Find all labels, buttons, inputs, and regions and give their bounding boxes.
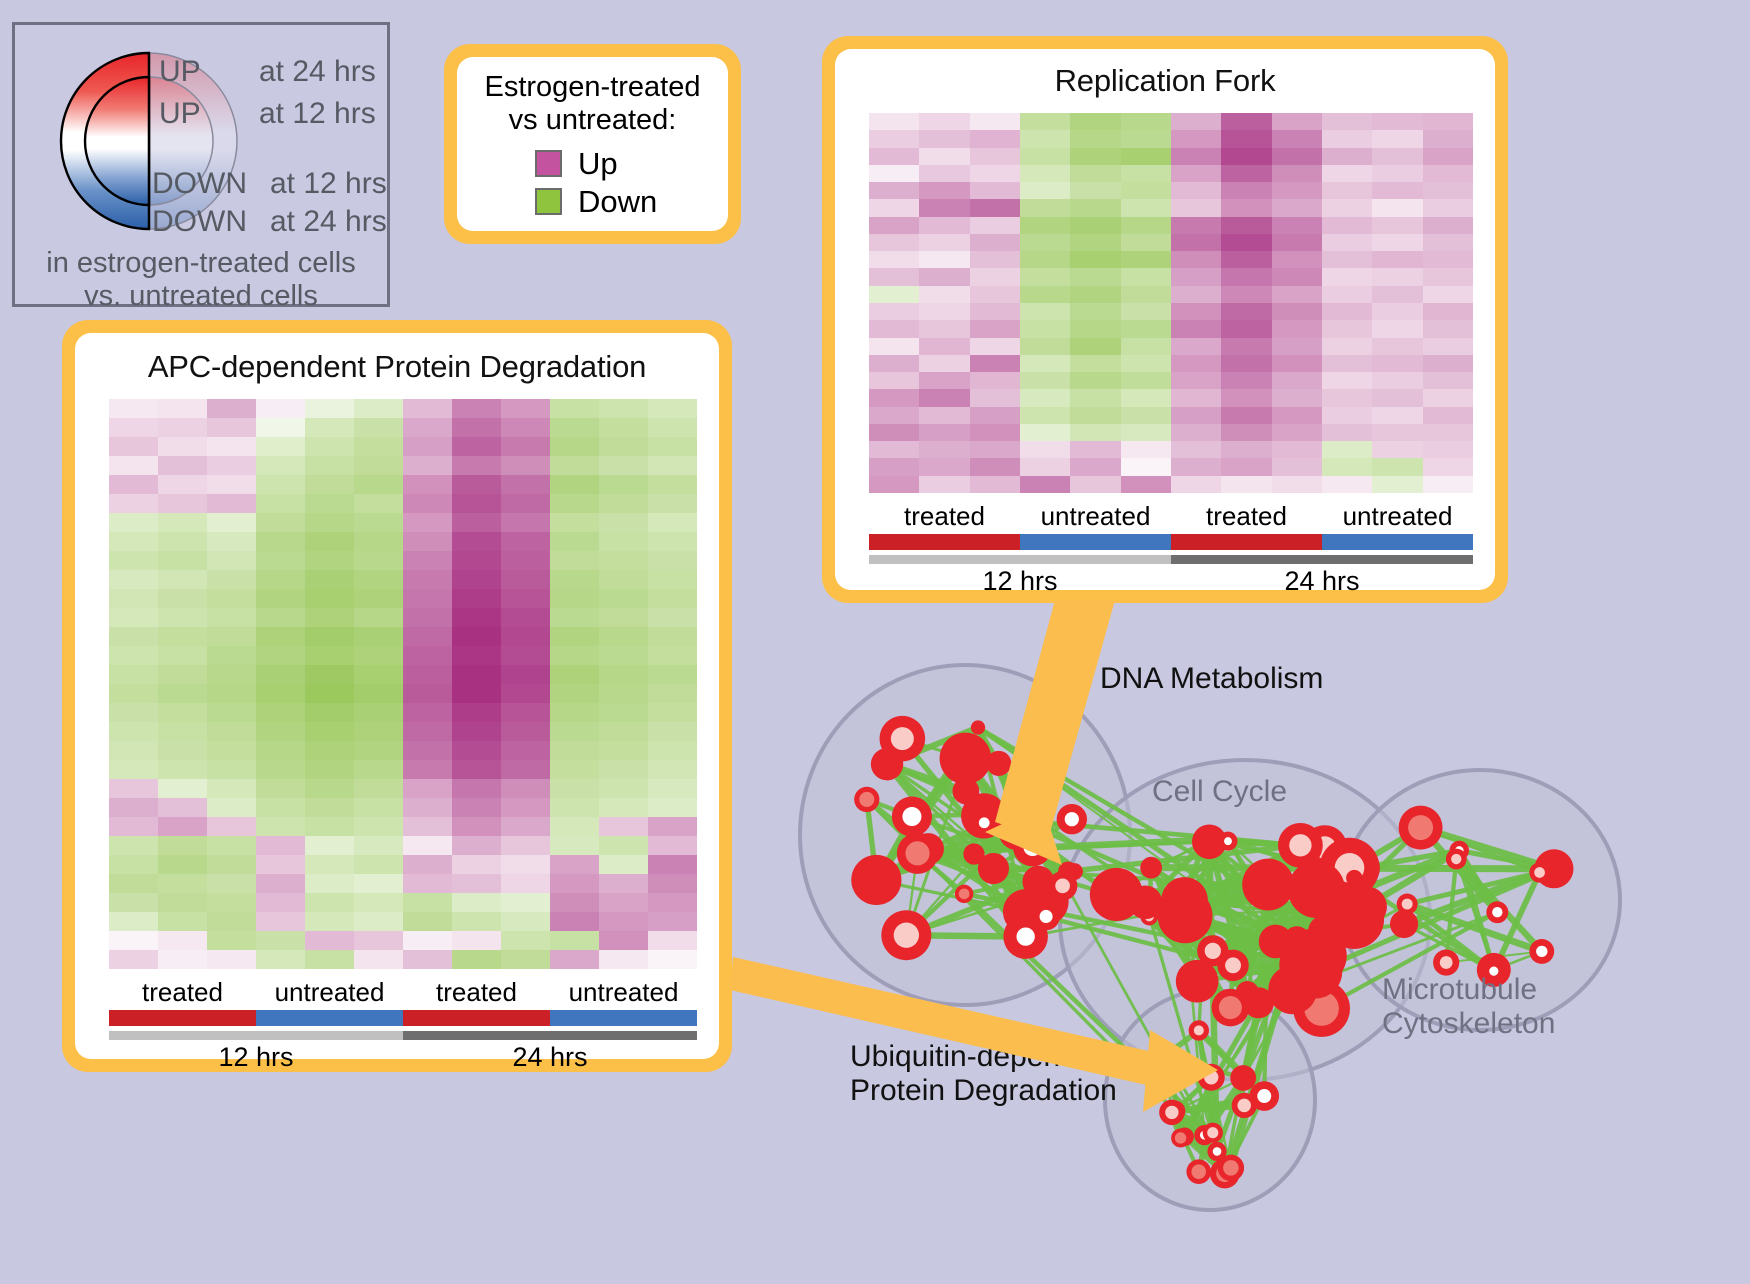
heatmap-cell xyxy=(354,836,403,855)
network-node[interactable] xyxy=(1288,861,1345,918)
network-node[interactable] xyxy=(1176,960,1219,1003)
heatmap-cell xyxy=(403,418,452,437)
heatmap-cell xyxy=(158,589,207,608)
heatmap-cell xyxy=(305,456,354,475)
heatmap-cell xyxy=(109,779,158,798)
heatmap-cell xyxy=(403,722,452,741)
heatmap-cell xyxy=(256,741,305,760)
heatmap-cell xyxy=(1070,320,1120,337)
heatmap-cell xyxy=(1121,407,1171,424)
legend-label-up: Up xyxy=(578,148,618,179)
heatmap-cell xyxy=(501,608,550,627)
heatmap-cell xyxy=(158,836,207,855)
heatmap-cell xyxy=(1121,148,1171,165)
heatmap-cell xyxy=(599,494,648,513)
key-time-up-24: at 24 hrs xyxy=(259,55,376,89)
heatmap-cell xyxy=(305,437,354,456)
network-node-core xyxy=(1237,1099,1250,1112)
heatmap-cell xyxy=(354,551,403,570)
heatmap-cell xyxy=(970,148,1020,165)
heatmap-cell xyxy=(501,836,550,855)
timepoint-bar-segment xyxy=(1171,555,1473,564)
legend-item-list: UpDown xyxy=(457,144,728,220)
heatmap-cell xyxy=(452,950,501,969)
heatmap-cell xyxy=(403,570,452,589)
heatmap-cell xyxy=(1221,476,1271,493)
cluster-label-line: DNA Metabolism xyxy=(1100,662,1323,696)
heatmap-cell xyxy=(1070,476,1120,493)
heatmap-cell xyxy=(256,779,305,798)
heatmap-cell xyxy=(648,513,697,532)
heatmap-cell xyxy=(207,950,256,969)
heatmap-cell xyxy=(970,389,1020,406)
heatmap-cell xyxy=(1020,251,1070,268)
heatmap-cell xyxy=(109,950,158,969)
heatmap-cell xyxy=(1121,268,1171,285)
heatmap-cell xyxy=(1070,407,1120,424)
heatmap-cell xyxy=(1070,130,1120,147)
heatmap-cell xyxy=(403,893,452,912)
heatmap-cell xyxy=(599,931,648,950)
heatmap-cell xyxy=(550,684,599,703)
heatmap-cell xyxy=(158,399,207,418)
heatmap-cell xyxy=(550,646,599,665)
heatmap-cell xyxy=(1171,217,1221,234)
heatmap-cell xyxy=(158,855,207,874)
heatmap-cell xyxy=(1322,165,1372,182)
heatmap-cell xyxy=(109,437,158,456)
apc-condition-bar xyxy=(109,1010,697,1026)
pathway-network-diagram: DNA MetabolismCell CycleMicrotubuleCytos… xyxy=(790,600,1750,1279)
timepoint-bar-segment xyxy=(109,1031,403,1040)
network-node[interactable] xyxy=(940,733,992,785)
heatmap-cell xyxy=(550,418,599,437)
heatmap-cell xyxy=(550,513,599,532)
network-node[interactable] xyxy=(971,720,985,734)
heatmap-cell xyxy=(305,912,354,931)
timepoint-label: 12 hrs xyxy=(109,1042,403,1073)
cluster-label-line: Cytoskeleton xyxy=(1382,1007,1555,1041)
heatmap-cell xyxy=(1322,234,1372,251)
heatmap-cell xyxy=(354,931,403,950)
heatmap-cell xyxy=(1070,424,1120,441)
heatmap-cell xyxy=(550,931,599,950)
heatmap-cell xyxy=(970,458,1020,475)
heatmap-cell xyxy=(869,268,919,285)
network-node-core xyxy=(1408,815,1433,840)
heatmap-cell xyxy=(1423,113,1473,130)
heatmap-cell xyxy=(1121,217,1171,234)
heatmap-cell xyxy=(1272,199,1322,216)
heatmap-cell xyxy=(919,251,969,268)
heatmap-cell xyxy=(305,608,354,627)
heatmap-cell xyxy=(970,407,1020,424)
heatmap-cell xyxy=(648,912,697,931)
timepoint-bar-segment xyxy=(869,555,1171,564)
heatmap-cell xyxy=(599,665,648,684)
network-node-core xyxy=(1440,956,1453,969)
heatmap-cell xyxy=(1221,251,1271,268)
heatmap-cell xyxy=(354,456,403,475)
heatmap-cell xyxy=(305,665,354,684)
heatmap-cell xyxy=(1322,476,1372,493)
network-node-core xyxy=(1402,899,1413,910)
heatmap-cell xyxy=(403,931,452,950)
heatmap-cell xyxy=(1121,130,1171,147)
network-node[interactable] xyxy=(851,855,901,905)
heatmap-cell xyxy=(403,456,452,475)
heatmap-cell xyxy=(599,779,648,798)
heatmap-cell xyxy=(1322,458,1372,475)
heatmap-cell xyxy=(501,494,550,513)
network-node-core xyxy=(1257,1089,1271,1103)
heatmap-cell xyxy=(354,665,403,684)
heatmap-cell xyxy=(1423,424,1473,441)
heatmap-cell xyxy=(1423,199,1473,216)
heatmap-cell xyxy=(403,399,452,418)
heatmap-cell xyxy=(1372,165,1422,182)
network-node[interactable] xyxy=(1090,868,1143,921)
heatmap-cell xyxy=(256,532,305,551)
heatmap-cell xyxy=(919,458,969,475)
heatmap-cell xyxy=(919,113,969,130)
apc-condition-labels: treateduntreatedtreateduntreated xyxy=(109,977,697,1008)
heatmap-cell xyxy=(1372,424,1422,441)
heatmap-cell xyxy=(1221,217,1271,234)
network-node-core xyxy=(1223,1160,1238,1175)
heatmap-cell xyxy=(970,165,1020,182)
heatmap-cell xyxy=(1020,286,1070,303)
heatmap-cell xyxy=(1070,286,1120,303)
heatmap-cell xyxy=(158,494,207,513)
heatmap-cell xyxy=(452,912,501,931)
cluster-label-line: Ubiquitin-dependent xyxy=(850,1040,1119,1074)
heatmap-cell xyxy=(1372,303,1422,320)
heatmap-cell xyxy=(1171,407,1221,424)
condition-label: treated xyxy=(403,977,550,1008)
heatmap-cell xyxy=(599,646,648,665)
heatmap-cell xyxy=(1221,268,1271,285)
heatmap-cell xyxy=(354,513,403,532)
panel-apc-dependent-protein-degradation: APC-dependent Protein Degradation treate… xyxy=(62,320,732,1072)
heatmap-cell xyxy=(1070,251,1120,268)
heatmap-cell xyxy=(869,148,919,165)
network-node[interactable] xyxy=(963,843,984,864)
heatmap-cell xyxy=(452,893,501,912)
heatmap-cell xyxy=(305,589,354,608)
heatmap-cell xyxy=(354,817,403,836)
heatmap-cell xyxy=(599,760,648,779)
heatmap-cell xyxy=(1272,234,1322,251)
heatmap-cell xyxy=(1372,320,1422,337)
heatmap-cell xyxy=(550,437,599,456)
heatmap-cell xyxy=(1020,424,1070,441)
network-node[interactable] xyxy=(1230,1065,1256,1091)
heatmap-cell xyxy=(158,475,207,494)
heatmap-cell xyxy=(919,441,969,458)
heatmap-cell xyxy=(1372,286,1422,303)
heatmap-cell xyxy=(1121,286,1171,303)
heatmap-cell xyxy=(648,608,697,627)
heatmap-cell xyxy=(1221,372,1271,389)
heatmap-cell xyxy=(648,893,697,912)
network-node[interactable] xyxy=(1196,831,1214,849)
heatmap-cell xyxy=(970,476,1020,493)
heatmap-cell xyxy=(869,355,919,372)
network-node-core xyxy=(1213,1147,1222,1156)
heatmap-cell xyxy=(1121,303,1171,320)
heatmap-cell xyxy=(970,286,1020,303)
heatmap-cell xyxy=(1372,441,1422,458)
key-label-down-12: DOWN xyxy=(152,167,247,201)
condition-label: treated xyxy=(109,977,256,1008)
heatmap-cell xyxy=(207,779,256,798)
heatmap-cell xyxy=(452,418,501,437)
heatmap-cell xyxy=(919,355,969,372)
heatmap-cell xyxy=(1272,303,1322,320)
heatmap-cell xyxy=(109,475,158,494)
condition-bar-segment xyxy=(1171,534,1322,550)
heatmap-cell xyxy=(1121,320,1171,337)
heatmap-cell xyxy=(158,912,207,931)
heatmap-cell xyxy=(256,798,305,817)
heatmap-cell xyxy=(109,627,158,646)
heatmap-cell xyxy=(158,456,207,475)
heatmap-cell xyxy=(354,912,403,931)
condition-label: untreated xyxy=(550,977,697,1008)
heatmap-cell xyxy=(1121,458,1171,475)
heatmap-cell xyxy=(599,551,648,570)
heatmap-cell xyxy=(403,874,452,893)
heatmap-cell xyxy=(158,551,207,570)
heatmap-cell xyxy=(970,424,1020,441)
heatmap-cell xyxy=(452,475,501,494)
heatmap-cell xyxy=(109,646,158,665)
heatmap-cell xyxy=(256,760,305,779)
heatmap-cell xyxy=(599,589,648,608)
heatmap-cell xyxy=(305,855,354,874)
heatmap-cell xyxy=(1322,355,1372,372)
network-node-core xyxy=(1194,1025,1204,1035)
heatmap-cell xyxy=(305,779,354,798)
network-node-core xyxy=(1191,1164,1206,1179)
heatmap-cell xyxy=(648,836,697,855)
heatmap-cell xyxy=(1423,458,1473,475)
heatmap-cell xyxy=(354,399,403,418)
heatmap-cell xyxy=(970,217,1020,234)
network-node-core xyxy=(1536,946,1547,957)
heatmap-cell xyxy=(1171,441,1221,458)
network-node[interactable] xyxy=(1236,981,1259,1004)
heatmap-cell xyxy=(305,646,354,665)
heatmap-cell xyxy=(550,551,599,570)
heatmap-cell xyxy=(648,589,697,608)
heatmap-cell xyxy=(452,646,501,665)
heatmap-cell xyxy=(109,570,158,589)
heatmap-cell xyxy=(305,399,354,418)
heatmap-cell xyxy=(403,912,452,931)
heatmap-cell xyxy=(1272,407,1322,424)
heatmap-cell xyxy=(919,476,969,493)
heatmap-cell xyxy=(305,722,354,741)
apc-title: APC-dependent Protein Degradation xyxy=(75,333,719,385)
heatmap-cell xyxy=(403,703,452,722)
network-node[interactable] xyxy=(986,751,1011,776)
network-node[interactable] xyxy=(1390,910,1418,938)
heatmap-cell xyxy=(354,589,403,608)
heatmap-cell xyxy=(158,722,207,741)
heatmap-cell xyxy=(1423,182,1473,199)
heatmap-cell xyxy=(1121,251,1171,268)
heatmap-cell xyxy=(109,532,158,551)
heatmap-cell xyxy=(501,798,550,817)
heatmap-cell xyxy=(1423,389,1473,406)
heatmap-cell xyxy=(1372,458,1422,475)
heatmap-cell xyxy=(1070,458,1120,475)
heatmap-cell xyxy=(354,437,403,456)
heatmap-cell xyxy=(1372,268,1422,285)
network-cluster-label-microtubule-cytoskeleton: MicrotubuleCytoskeleton xyxy=(1382,973,1555,1040)
heatmap-cell xyxy=(599,855,648,874)
heatmap-cell xyxy=(354,684,403,703)
heatmap-cell xyxy=(207,513,256,532)
legend-item-down: Down xyxy=(535,182,728,220)
heatmap-cell xyxy=(1423,217,1473,234)
heatmap-cell xyxy=(648,798,697,817)
network-node-core xyxy=(905,841,929,865)
heatmap-cell xyxy=(256,551,305,570)
heatmap-cell xyxy=(403,798,452,817)
network-node-core xyxy=(1065,812,1079,826)
heatmap-cell xyxy=(648,703,697,722)
heatmap-cell xyxy=(207,646,256,665)
rf-timepoint-labels: 12 hrs24 hrs xyxy=(869,566,1473,597)
network-node[interactable] xyxy=(1000,812,1015,827)
heatmap-cell xyxy=(207,893,256,912)
heatmap-cell xyxy=(403,779,452,798)
heatmap-cell xyxy=(550,475,599,494)
heatmap-cell xyxy=(1020,355,1070,372)
heatmap-cell xyxy=(1020,458,1070,475)
heatmap-cell xyxy=(599,532,648,551)
heatmap-cell xyxy=(256,817,305,836)
heatmap-cell xyxy=(1423,320,1473,337)
heatmap-cell xyxy=(256,494,305,513)
heatmap-cell xyxy=(1070,182,1120,199)
heatmap-cell xyxy=(256,437,305,456)
heatmap-cell xyxy=(1423,251,1473,268)
heatmap-cell xyxy=(550,608,599,627)
heatmap-cell xyxy=(207,456,256,475)
heatmap-cell xyxy=(305,703,354,722)
network-node[interactable] xyxy=(1242,859,1294,911)
heatmap-cell xyxy=(1121,165,1171,182)
heatmap-cell xyxy=(599,722,648,741)
network-node[interactable] xyxy=(1158,888,1213,943)
heatmap-cell xyxy=(1171,234,1221,251)
heatmap-cell xyxy=(550,798,599,817)
heatmap-cell xyxy=(207,437,256,456)
heatmap-cell xyxy=(256,703,305,722)
heatmap-cell xyxy=(256,893,305,912)
heatmap-cell xyxy=(452,551,501,570)
heatmap-cell xyxy=(1322,217,1372,234)
heatmap-cell xyxy=(1221,441,1271,458)
heatmap-cell xyxy=(550,627,599,646)
condition-label: treated xyxy=(869,501,1020,532)
heatmap-cell xyxy=(1070,217,1120,234)
heatmap-cell xyxy=(109,703,158,722)
heatmap-cell xyxy=(648,475,697,494)
heatmap-cell xyxy=(919,217,969,234)
heatmap-cell xyxy=(256,874,305,893)
heatmap-cell xyxy=(1020,407,1070,424)
heatmap-cell xyxy=(970,441,1020,458)
heatmap-cell xyxy=(599,950,648,969)
network-cluster-label-dna-metabolism: DNA Metabolism xyxy=(1100,662,1323,696)
heatmap-cell xyxy=(109,722,158,741)
heatmap-cell xyxy=(207,760,256,779)
heatmap-cell xyxy=(452,570,501,589)
heatmap-cell xyxy=(550,570,599,589)
heatmap-cell xyxy=(599,513,648,532)
heatmap-cell xyxy=(1272,458,1322,475)
heatmap-cell xyxy=(1272,165,1322,182)
heatmap-cell xyxy=(452,627,501,646)
heatmap-cell xyxy=(648,399,697,418)
heatmap-cell xyxy=(256,399,305,418)
heatmap-cell xyxy=(1272,251,1322,268)
heatmap-cell xyxy=(109,798,158,817)
heatmap-cell xyxy=(869,130,919,147)
heatmap-cell xyxy=(1121,199,1171,216)
heatmap-cell xyxy=(1322,268,1372,285)
heatmap-cell xyxy=(305,532,354,551)
heatmap-cell xyxy=(1423,286,1473,303)
heatmap-cell xyxy=(599,627,648,646)
network-node[interactable] xyxy=(1279,937,1335,993)
network-node-core xyxy=(1040,910,1053,923)
heatmap-cell xyxy=(501,703,550,722)
heatmap-cell xyxy=(648,627,697,646)
heatmap-cell xyxy=(501,855,550,874)
heatmap-cell xyxy=(207,589,256,608)
heatmap-cell xyxy=(1121,424,1171,441)
timepoint-bar-segment xyxy=(403,1031,697,1040)
heatmap-cell xyxy=(109,760,158,779)
heatmap-cell xyxy=(207,665,256,684)
condition-bar-segment xyxy=(1020,534,1171,550)
heatmap-cell xyxy=(354,418,403,437)
heatmap-cell xyxy=(158,608,207,627)
heatmap-cell xyxy=(919,268,969,285)
heatmap-cell xyxy=(1272,286,1322,303)
network-node[interactable] xyxy=(1140,857,1162,879)
heatmap-cell xyxy=(354,646,403,665)
apc-timepoint-bar xyxy=(109,1031,697,1040)
heatmap-cell xyxy=(354,874,403,893)
network-node[interactable] xyxy=(1346,870,1362,886)
heatmap-cell xyxy=(648,437,697,456)
apc-timepoint-labels: 12 hrs24 hrs xyxy=(109,1042,697,1073)
heatmap-cell xyxy=(1372,234,1422,251)
heatmap-cell xyxy=(648,722,697,741)
heatmap-cell xyxy=(919,165,969,182)
heatmap-cell xyxy=(109,931,158,950)
heatmap-cell xyxy=(869,113,919,130)
heatmap-cell xyxy=(970,130,1020,147)
heatmap-cell xyxy=(1121,355,1171,372)
